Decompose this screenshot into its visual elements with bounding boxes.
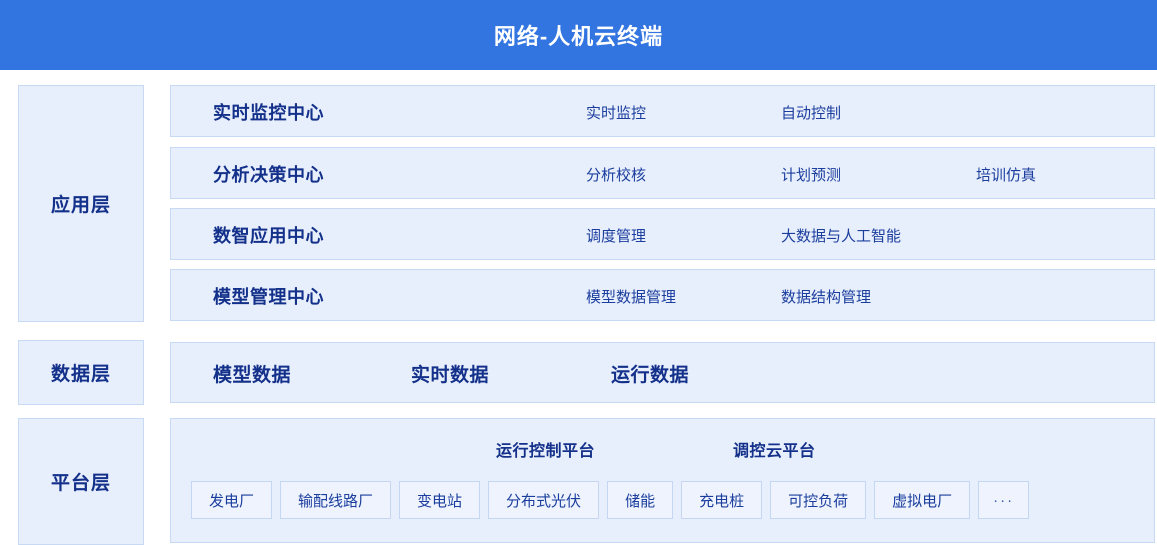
page-header: 网络-人机云终端 xyxy=(0,0,1157,70)
app-row-digital-intelligence[interactable]: 数智应用中心 调度管理 大数据与人工智能 xyxy=(170,208,1155,260)
chip-transmission-line[interactable]: 输配线路厂 xyxy=(280,481,391,519)
platform-layer-panel: 运行控制平台 调控云平台 发电厂 输配线路厂 变电站 分布式光伏 储能 充电桩 … xyxy=(170,418,1155,543)
app-row-item-dispatch-management[interactable]: 调度管理 xyxy=(586,209,646,261)
app-row-title: 分析决策中心 xyxy=(213,148,324,200)
chip-charging-pile[interactable]: 充电桩 xyxy=(681,481,762,519)
data-item-operation-data[interactable]: 运行数据 xyxy=(611,343,689,404)
chip-power-plant[interactable]: 发电厂 xyxy=(191,481,272,519)
app-row-item-auto-control[interactable]: 自动控制 xyxy=(781,86,841,138)
chip-distributed-pv[interactable]: 分布式光伏 xyxy=(488,481,599,519)
platform-title-dispatch-cloud: 调控云平台 xyxy=(733,437,816,461)
app-row-item-training-simulation[interactable]: 培训仿真 xyxy=(976,148,1036,200)
app-row-item-bigdata-ai[interactable]: 大数据与人工智能 xyxy=(781,209,901,261)
chip-energy-storage[interactable]: 储能 xyxy=(607,481,673,519)
layer-label-application: 应用层 xyxy=(18,85,144,322)
app-row-analysis-decision[interactable]: 分析决策中心 分析校核 计划预测 培训仿真 xyxy=(170,147,1155,199)
platform-chip-row: 发电厂 输配线路厂 变电站 分布式光伏 储能 充电桩 可控负荷 虚拟电厂 ··· xyxy=(191,481,1029,519)
data-layer-panel: 模型数据 实时数据 运行数据 xyxy=(170,342,1155,403)
chip-controllable-load[interactable]: 可控负荷 xyxy=(770,481,866,519)
layer-label-application-text: 应用层 xyxy=(51,190,111,217)
app-row-item-data-structure-management[interactable]: 数据结构管理 xyxy=(781,270,871,322)
layer-label-platform-text: 平台层 xyxy=(51,468,111,495)
chip-virtual-power-plant[interactable]: 虚拟电厂 xyxy=(874,481,970,519)
app-row-title: 实时监控中心 xyxy=(213,86,324,138)
chip-more-ellipsis[interactable]: ··· xyxy=(978,481,1029,519)
app-row-item-model-data-management[interactable]: 模型数据管理 xyxy=(586,270,676,322)
data-item-realtime-data[interactable]: 实时数据 xyxy=(411,343,489,404)
layer-label-data-text: 数据层 xyxy=(51,359,111,386)
page-title: 网络-人机云终端 xyxy=(494,19,663,51)
chip-substation[interactable]: 变电站 xyxy=(399,481,480,519)
app-row-realtime-monitoring[interactable]: 实时监控中心 实时监控 自动控制 xyxy=(170,85,1155,137)
app-row-model-management[interactable]: 模型管理中心 模型数据管理 数据结构管理 xyxy=(170,269,1155,321)
app-row-title: 数智应用中心 xyxy=(213,209,324,261)
layer-label-platform: 平台层 xyxy=(18,418,144,545)
layer-label-data: 数据层 xyxy=(18,340,144,405)
data-item-model-data[interactable]: 模型数据 xyxy=(213,343,291,404)
app-row-item-realtime-monitor[interactable]: 实时监控 xyxy=(586,86,646,138)
platform-title-operation-control: 运行控制平台 xyxy=(496,437,595,461)
architecture-diagram-page: 网络-人机云终端 应用层 实时监控中心 实时监控 自动控制 分析决策中心 分析校… xyxy=(0,0,1157,545)
app-row-item-analysis-check[interactable]: 分析校核 xyxy=(586,148,646,200)
app-row-item-plan-forecast[interactable]: 计划预测 xyxy=(781,148,841,200)
app-row-title: 模型管理中心 xyxy=(213,270,324,322)
